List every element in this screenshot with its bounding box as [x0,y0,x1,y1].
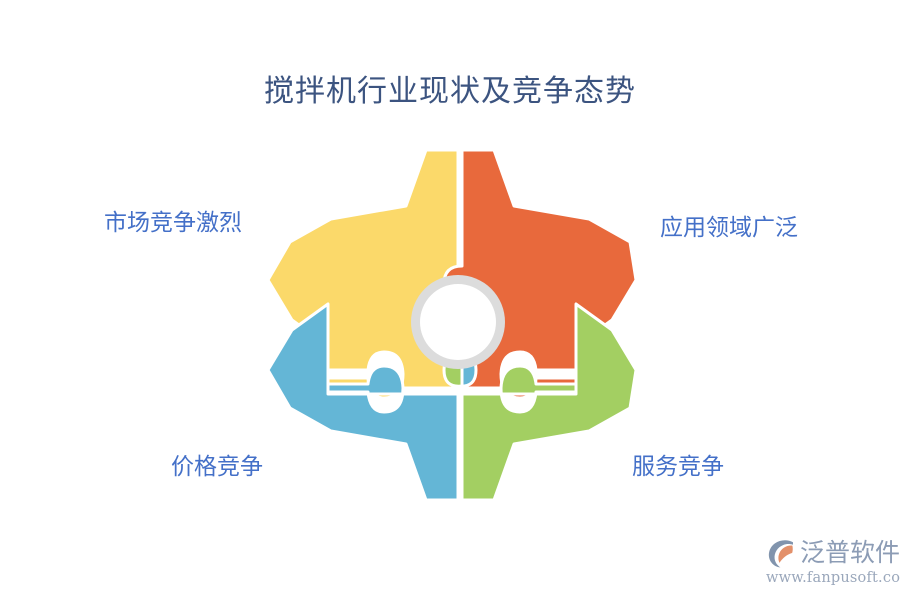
brand-name: 泛普软件 [800,538,900,568]
label-application-scope: 应用领域广泛 [660,213,798,243]
puzzle-svg [262,130,642,520]
label-service-competition: 服务竞争 [632,452,724,482]
fanpu-logo-icon [766,538,798,568]
brand-logo[interactable]: 泛普软件 www.fanpusoft.com [766,536,892,588]
brand-row: 泛普软件 [766,536,892,570]
puzzle-diagram [262,130,642,520]
label-price-competition: 价格竞争 [171,452,263,482]
label-market-competition: 市场竞争激烈 [104,208,242,238]
center-circle [420,284,496,360]
brand-url: www.fanpusoft.com [766,570,892,587]
page-title: 搅拌机行业现状及竞争态势 [0,72,900,112]
slide-canvas: 搅拌机行业现状及竞争态势 市场竞争激烈 应用领域广泛 价格竞争 服务竞争 [0,0,900,600]
